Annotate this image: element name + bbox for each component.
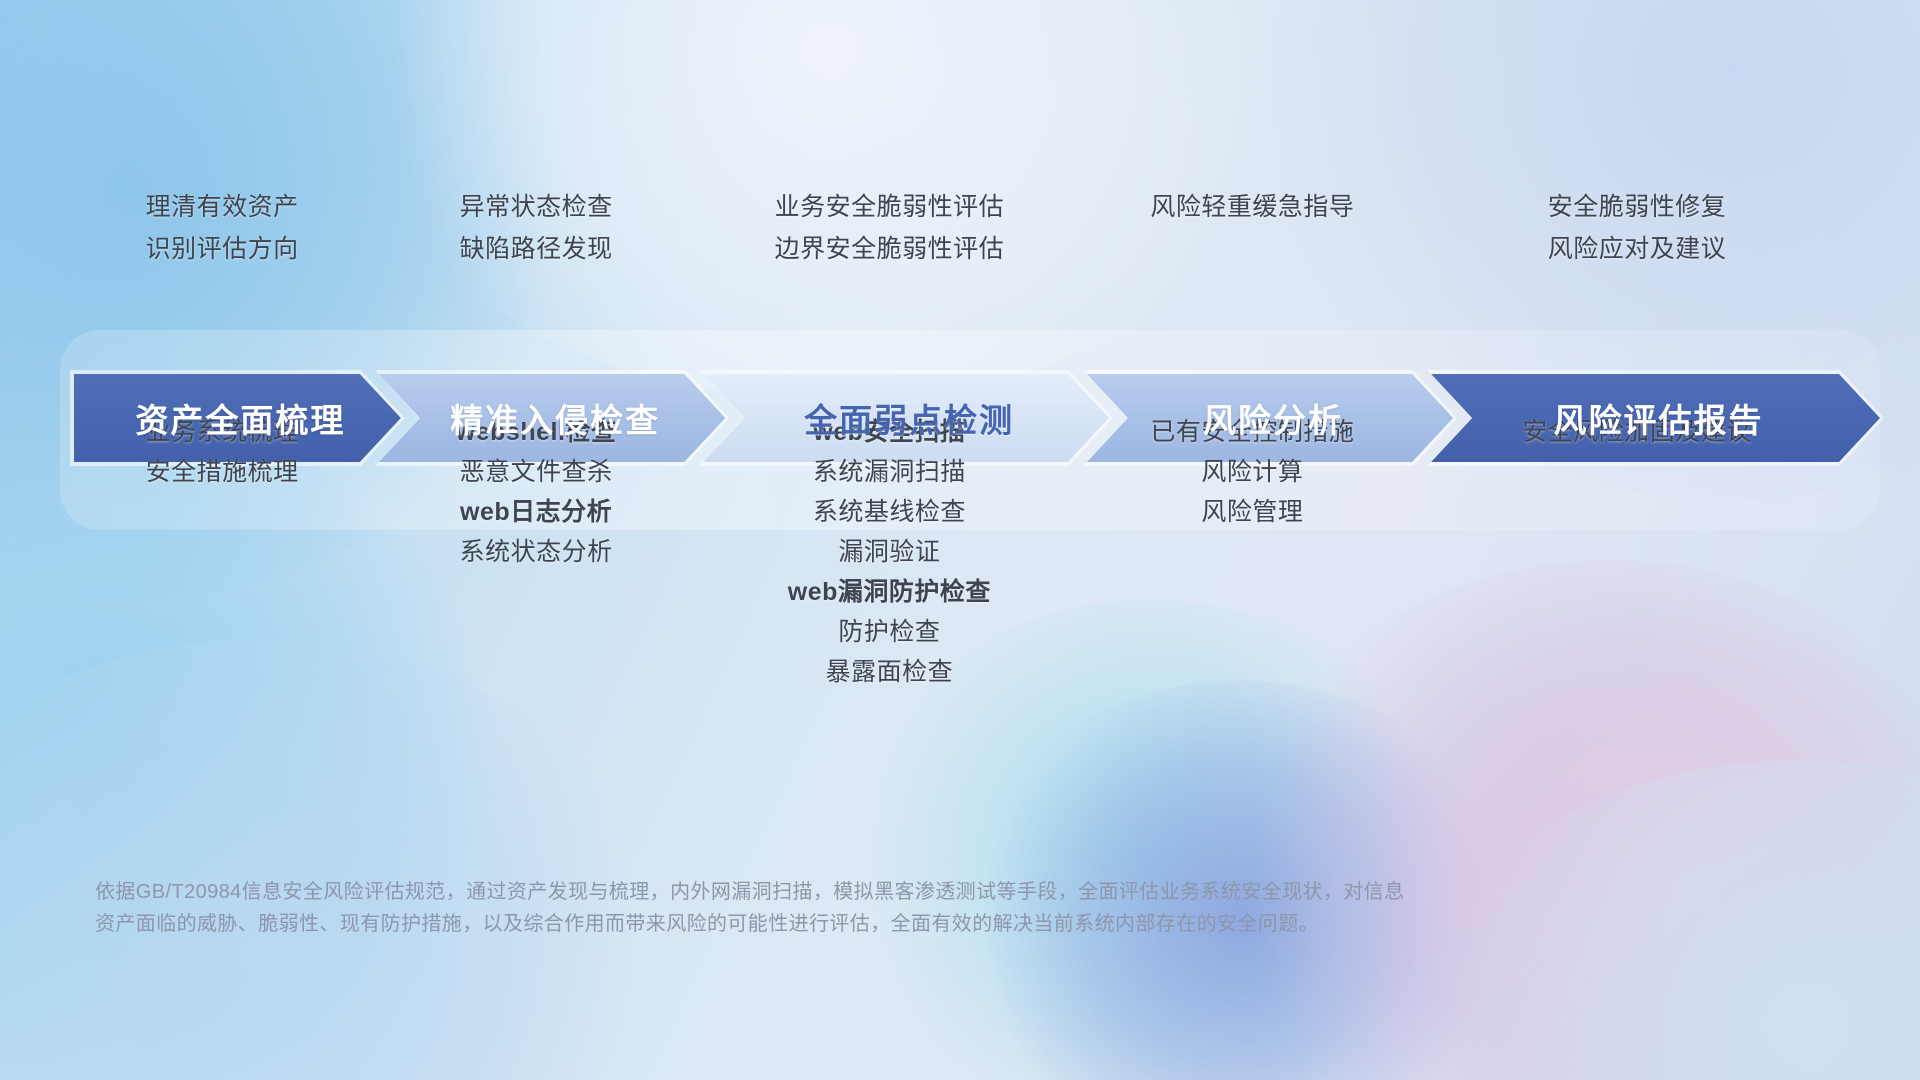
top-annotation-item: 异常状态检查 [460,186,613,228]
bottom-annotation-item: 漏洞验证 [838,532,940,572]
stage-top-annotations-3: 业务安全脆弱性评估边界安全脆弱性评估 [698,186,1081,270]
bottom-annotation-item: 系统漏洞扫描 [813,452,966,492]
stage-arrow-label: 全面弱点检测 [798,394,1014,442]
top-annotation-item: 缺陷路径发现 [460,228,613,270]
stage-top-annotations-4: 风险轻重缓急指导 [1081,186,1424,270]
stage-arrow-label: 资产全面梳理 [129,394,345,442]
bottom-annotation-item: web日志分析 [460,492,612,532]
stage-bottom-annotations-3: web安全扫描系统漏洞扫描系统基线检查漏洞验证web漏洞防护检查防护检查暴露面检… [698,412,1081,692]
footer-line-1: 依据GB/T20984信息安全风险评估规范，通过资产发现与梳理，内外网漏洞扫描，… [95,876,1625,908]
top-annotation-item: 风险轻重缓急指导 [1150,186,1354,228]
stage-bottom-annotations-1: 业务系统梳理安全措施梳理 [70,412,374,692]
top-annotation-item: 风险应对及建议 [1548,228,1727,270]
footer-line-2: 资产面临的威胁、脆弱性、现有防护措施，以及综合作用而带来风险的可能性进行评估，全… [95,908,1625,940]
top-annotation-item: 安全脆弱性修复 [1548,186,1727,228]
stage-top-annotations-5: 安全脆弱性修复风险应对及建议 [1424,186,1850,270]
bottom-annotation-item: 安全措施梳理 [146,452,299,492]
bottom-annotation-item: web漏洞防护检查 [788,572,991,612]
stage-arrow-label: 风险评估报告 [1548,394,1764,442]
process-diagram: 理清有效资产识别评估方向异常状态检查缺陷路径发现业务安全脆弱性评估边界安全脆弱性… [0,0,1920,1080]
stage-bottom-annotations-5: 安全风险加固及建议 [1424,412,1850,692]
top-annotation-item: 识别评估方向 [146,228,299,270]
bottom-annotations-row: 业务系统梳理安全措施梳理webshell检查恶意文件查杀web日志分析系统状态分… [70,412,1850,692]
top-annotation-item: 业务安全脆弱性评估 [775,186,1005,228]
footer-description: 依据GB/T20984信息安全风险评估规范，通过资产发现与梳理，内外网漏洞扫描，… [95,876,1625,940]
stage-bottom-annotations-4: 已有安全控制措施风险计算风险管理 [1081,412,1424,692]
stage-bottom-annotations-2: webshell检查恶意文件查杀web日志分析系统状态分析 [374,412,698,692]
bottom-annotation-item: 系统基线检查 [813,492,966,532]
bottom-annotation-item: 风险管理 [1201,492,1303,532]
top-annotation-item: 边界安全脆弱性评估 [775,228,1005,270]
top-annotations-row: 理清有效资产识别评估方向异常状态检查缺陷路径发现业务安全脆弱性评估边界安全脆弱性… [70,186,1850,270]
bottom-annotation-item: 系统状态分析 [460,532,613,572]
bottom-annotation-item: 风险计算 [1201,452,1303,492]
stage-top-annotations-1: 理清有效资产识别评估方向 [70,186,374,270]
stage-arrow-label: 精准入侵检查 [444,394,660,442]
top-annotation-item: 理清有效资产 [146,186,299,228]
bottom-annotation-item: 暴露面检查 [826,652,954,692]
stage-arrow-label: 风险分析 [1197,394,1343,442]
stage-top-annotations-2: 异常状态检查缺陷路径发现 [374,186,698,270]
bottom-annotation-item: 防护检查 [838,612,940,652]
bottom-annotation-item: 恶意文件查杀 [460,452,613,492]
